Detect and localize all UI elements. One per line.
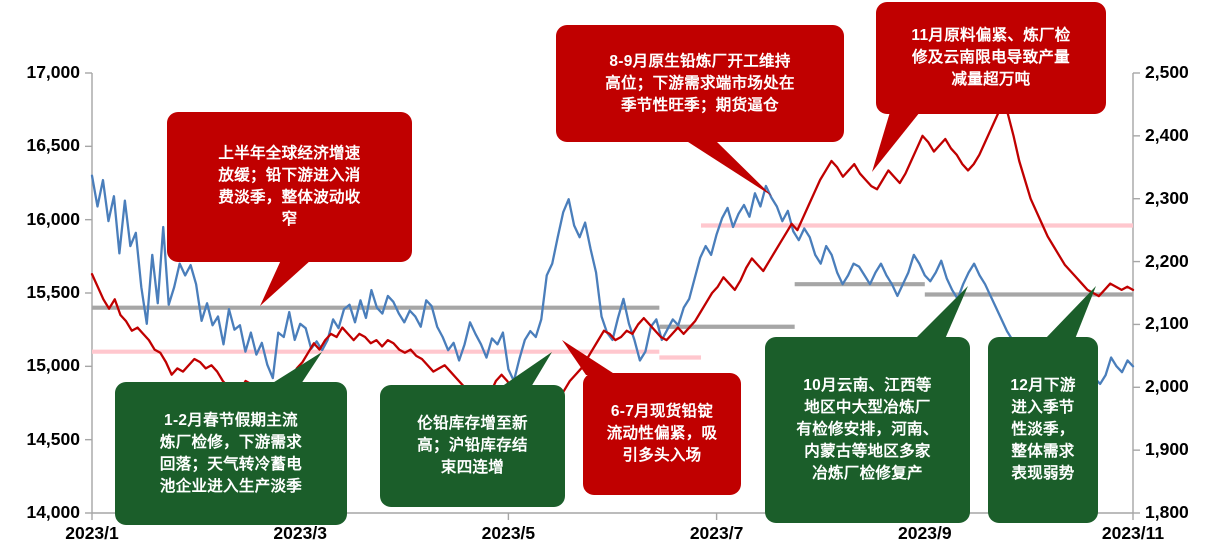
left-axis-tick-label: 14,500: [0, 431, 80, 449]
left-axis-tick-label: 14,000: [0, 504, 80, 522]
annotation-text: 上半年全球经济增速放缓；铅下游进入消费淡季，整体波动收窄: [176, 143, 403, 231]
annotation-text: 6-7月现货铅锭流动性偏紧，吸引多头入场: [592, 401, 732, 467]
callout-4-tail: [271, 352, 322, 384]
annotation-text: 伦铅库存增至新高；沪铅库存结束四连增: [389, 413, 556, 479]
x-axis-tick-label: 2023/7: [690, 525, 744, 543]
annotation-callout-6[interactable]: 6-7月现货铅锭流动性偏紧，吸引多头入场: [583, 373, 741, 495]
left-axis-tick-label: 16,500: [0, 137, 80, 155]
left-axis-tick-label: 15,000: [0, 357, 80, 375]
annotation-callout-4[interactable]: 1-2月春节假期主流炼厂检修，下游需求回落；天气转冷蓄电池企业进入生产淡季: [115, 382, 347, 525]
x-axis-tick-label: 2023/11: [1102, 525, 1164, 543]
annotation-text: 10月云南、江西等地区中大型冶炼厂有检修安排，河南、内蒙古等地区多家冶炼厂检修复…: [774, 375, 961, 485]
right-axis-tick-label: 2,400: [1145, 127, 1189, 145]
right-axis-tick-label: 2,300: [1145, 190, 1189, 208]
callout-3-tail: [872, 112, 920, 172]
annotation-text: 12月下游进入季节性淡季，整体需求表现弱势: [997, 375, 1089, 485]
annotation-callout-7[interactable]: 10月云南、江西等地区中大型冶炼厂有检修安排，河南、内蒙古等地区多家冶炼厂检修复…: [765, 337, 970, 523]
callout-6-tail: [562, 340, 616, 375]
annotation-callout-3[interactable]: 11月原料偏紧、炼厂检修及云南限电导致产量减量超万吨: [876, 2, 1106, 114]
right-axis-tick-label: 1,800: [1145, 504, 1189, 522]
right-axis-tick-label: 2,000: [1145, 378, 1189, 396]
x-axis-tick-label: 2023/3: [273, 525, 327, 543]
annotation-callout-2[interactable]: 8-9月原生铅炼厂开工维持高位；下游需求端市场处在季节性旺季；期货逼仓: [556, 25, 844, 142]
annotation-text: 1-2月春节假期主流炼厂检修，下游需求回落；天气转冷蓄电池企业进入生产淡季: [124, 410, 338, 498]
x-axis-tick-label: 2023/1: [65, 525, 119, 543]
right-axis-tick-label: 2,500: [1145, 64, 1189, 82]
left-axis-tick-label: 15,500: [0, 284, 80, 302]
right-axis-tick-label: 1,900: [1145, 441, 1189, 459]
right-axis-tick-label: 2,100: [1145, 315, 1189, 333]
left-axis-tick-label: 16,000: [0, 211, 80, 229]
left-axis-tick-label: 17,000: [0, 64, 80, 82]
annotation-text: 11月原料偏紧、炼厂检修及云南限电导致产量减量超万吨: [885, 25, 1097, 91]
annotation-text: 8-9月原生铅炼厂开工维持高位；下游需求端市场处在季节性旺季；期货逼仓: [565, 51, 835, 117]
callout-1-tail: [260, 260, 311, 306]
chart-canvas: 14,00014,50015,00015,50016,00016,50017,0…: [0, 0, 1209, 556]
annotation-callout-5[interactable]: 伦铅库存增至新高；沪铅库存结束四连增: [380, 385, 565, 507]
annotation-callout-1[interactable]: 上半年全球经济增速放缓；铅下游进入消费淡季，整体波动收窄: [167, 112, 412, 262]
annotation-callout-8[interactable]: 12月下游进入季节性淡季，整体需求表现弱势: [988, 337, 1098, 523]
x-axis-tick-label: 2023/9: [898, 525, 952, 543]
callout-2-tail: [685, 140, 772, 196]
x-axis-tick-label: 2023/5: [482, 525, 536, 543]
right-axis-tick-label: 2,200: [1145, 253, 1189, 271]
